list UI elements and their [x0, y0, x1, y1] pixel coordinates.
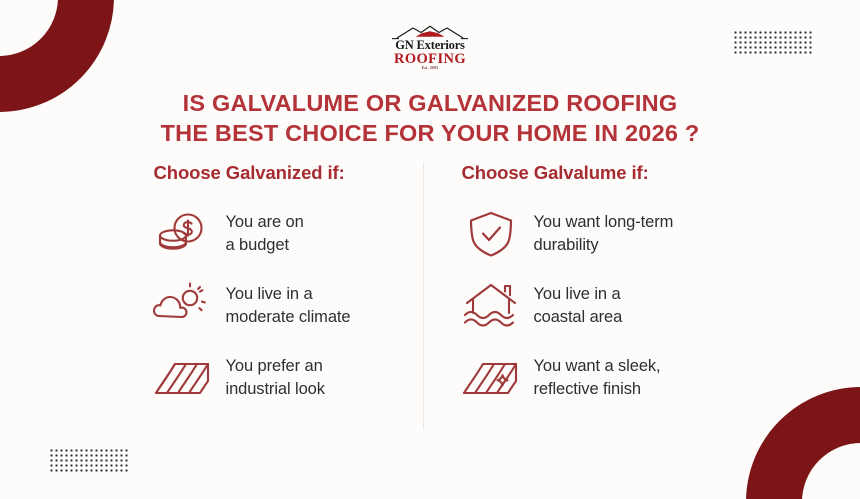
list-item-line-2: industrial look — [226, 378, 325, 401]
list-item: You want long-term durability — [460, 198, 717, 270]
list-item-line-2: coastal area — [534, 306, 623, 329]
list-item-line-2: a budget — [226, 234, 304, 257]
sun-cloud-icon — [152, 280, 214, 332]
corrugated-roof-shine-icon — [460, 352, 522, 404]
list-item-line-2: moderate climate — [226, 306, 351, 329]
list-item: You are on a budget — [152, 198, 409, 270]
corrugated-roof-icon — [152, 352, 214, 404]
title-line-1: IS GALVALUME OR GALVANIZED ROOFING — [0, 88, 860, 118]
coins-dollar-icon — [152, 208, 214, 260]
column-galvanized: Choose Galvanized if: You are on a budg — [144, 162, 409, 414]
shield-check-icon — [460, 208, 522, 260]
list-item-text: You want a sleek, reflective finish — [534, 355, 661, 401]
comparison-columns: Choose Galvanized if: You are on a budg — [0, 162, 860, 414]
list-item: You prefer an industrial look — [152, 342, 409, 414]
list-item-line-1: You prefer an — [226, 355, 325, 378]
list-item-line-1: You live in a — [534, 283, 623, 306]
title-line-2: THE BEST CHOICE FOR YOUR HOME IN 2026 ? — [0, 118, 860, 148]
list-item-line-1: You want a sleek, — [534, 355, 661, 378]
list-item: You want a sleek, reflective finish — [460, 342, 717, 414]
list-item-text: You prefer an industrial look — [226, 355, 325, 401]
list-item-text: You live in a moderate climate — [226, 283, 351, 329]
list-item-line-1: You live in a — [226, 283, 351, 306]
column-title-galvanized: Choose Galvanized if: — [154, 162, 409, 184]
logo-established: Est. 2005 — [382, 67, 478, 71]
logo-name: GN Exteriors — [382, 39, 478, 52]
logo-subtitle: ROOFING — [382, 52, 478, 67]
list-item-line-2: reflective finish — [534, 378, 661, 401]
list-item-line-1: You are on — [226, 211, 304, 234]
brand-logo: GN Exteriors ROOFING Est. 2005 — [382, 24, 478, 71]
list-item: You live in a coastal area — [460, 270, 717, 342]
list-item-line-1: You want long-term — [534, 211, 674, 234]
list-item: You live in a moderate climate — [152, 270, 409, 342]
dot-grid-top-right — [733, 30, 812, 56]
dot-grid-bottom-left — [49, 448, 128, 474]
column-galvalume: Choose Galvalume if: You want long-term … — [452, 162, 717, 414]
list-item-text: You live in a coastal area — [534, 283, 623, 329]
list-item-text: You are on a budget — [226, 211, 304, 257]
house-waves-icon — [460, 280, 522, 332]
list-item-line-2: durability — [534, 234, 674, 257]
column-title-galvalume: Choose Galvalume if: — [462, 162, 717, 184]
list-item-text: You want long-term durability — [534, 211, 674, 257]
page-title: IS GALVALUME OR GALVANIZED ROOFING THE B… — [0, 88, 860, 148]
